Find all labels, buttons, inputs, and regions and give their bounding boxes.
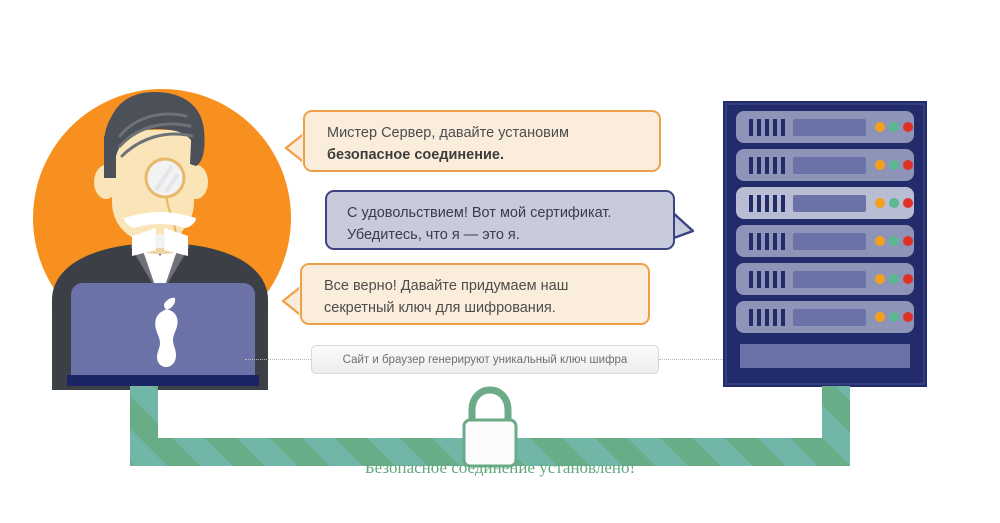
footer-caption: Безопасное соединение установлено! — [0, 458, 1000, 478]
led-red-2 — [903, 160, 913, 170]
server-unit-2 — [736, 149, 914, 181]
server-unit-5 — [736, 263, 914, 295]
server-unit-4 — [736, 225, 914, 257]
led-orange-6 — [875, 312, 885, 322]
led-orange-1 — [875, 122, 885, 132]
speech-bubble-browser-2: Все верно! Давайте придумаем наш секретн… — [300, 263, 650, 325]
led-red-3 — [903, 198, 913, 208]
led-orange-5 — [875, 274, 885, 284]
rack-bottom-panel — [740, 344, 910, 368]
bubble2-line2: Убедитесь, что я — это я. — [347, 225, 657, 247]
led-red-4 — [903, 236, 913, 246]
led-green-5 — [889, 274, 899, 284]
server-unit-1 — [736, 111, 914, 143]
led-red-1 — [903, 122, 913, 132]
connector-dotted-left — [245, 359, 311, 360]
browser-character — [0, 0, 320, 400]
infographic-canvas: Мистер Сервер, давайте установим безопас… — [0, 0, 1000, 523]
connector-dotted-right — [659, 359, 725, 360]
led-orange-4 — [875, 236, 885, 246]
bubble2-line1: С удовольствием! Вот мой сертификат. — [347, 203, 657, 225]
led-red-5 — [903, 274, 913, 284]
secure-connection-bracket — [120, 386, 860, 468]
speech-bubble-server-1: С удовольствием! Вот мой сертификат. Убе… — [325, 190, 675, 250]
padlock-closed-icon — [464, 390, 516, 466]
key-generation-note: Сайт и браузер генерируют уникальный клю… — [311, 345, 659, 374]
speech-bubble-browser-1: Мистер Сервер, давайте установим безопас… — [303, 110, 661, 172]
bubble1-line1: Мистер Сервер, давайте установим — [327, 123, 643, 145]
bubble1-line2: безопасное соединение. — [327, 145, 643, 167]
led-green-2 — [889, 160, 899, 170]
server-rack — [723, 101, 927, 387]
led-orange-3 — [875, 198, 885, 208]
led-red-6 — [903, 312, 913, 322]
bubble3-line1: Все верно! Давайте придумаем наш — [324, 276, 632, 298]
led-green-3 — [889, 198, 899, 208]
footer-caption-text: Безопасное соединение установлено! — [365, 458, 635, 477]
bubble3-line2: секретный ключ для шифрования. — [324, 298, 632, 320]
led-green-6 — [889, 312, 899, 322]
led-green-1 — [889, 122, 899, 132]
server-unit-3-highlighted — [736, 187, 914, 219]
key-generation-label: Сайт и браузер генерируют уникальный клю… — [343, 354, 628, 366]
laptop — [63, 281, 263, 391]
led-orange-2 — [875, 160, 885, 170]
led-green-4 — [889, 236, 899, 246]
server-unit-6 — [736, 301, 914, 333]
